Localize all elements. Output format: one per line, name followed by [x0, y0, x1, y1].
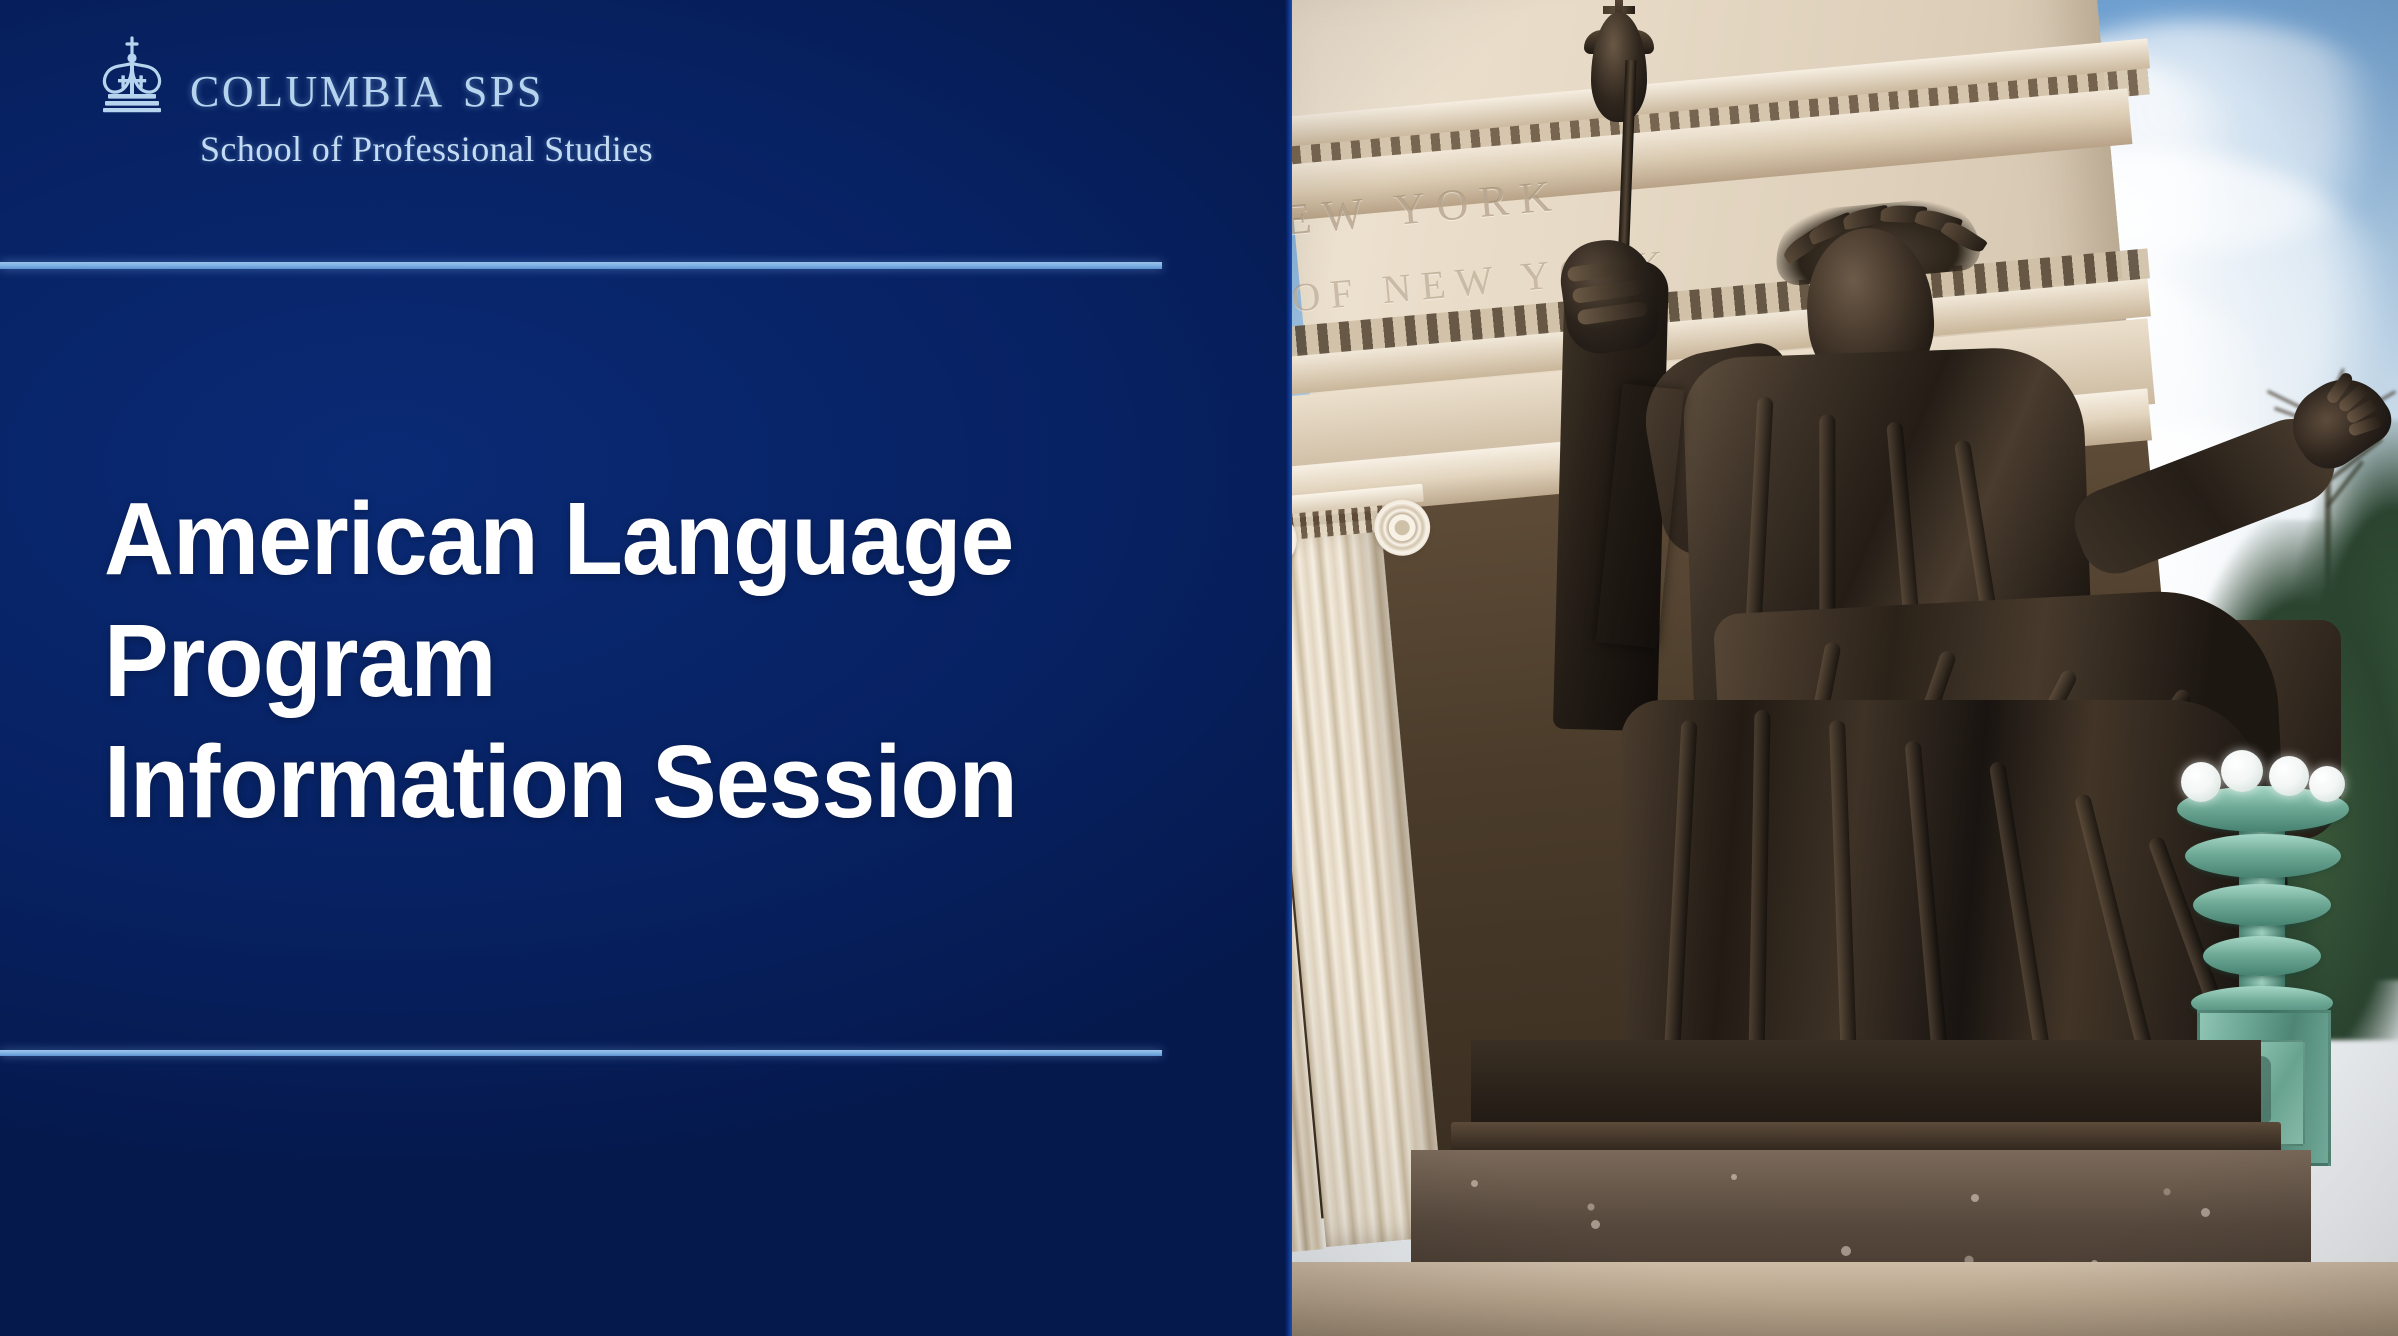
title-line-2: Program	[104, 600, 1017, 722]
columbia-crown-icon	[96, 34, 168, 114]
title-line-1: American Language	[104, 478, 1017, 600]
logo-wordmark: Columbia SPS	[190, 55, 544, 117]
lamp-globe	[2309, 766, 2345, 802]
presentation-slide: EW YORK OF NEW YORK Y OLD TO GENER MDCCC	[0, 0, 2398, 1336]
lamp-globe	[2269, 756, 2309, 796]
lamppost-tier	[2203, 936, 2321, 976]
lamp-globe	[2181, 762, 2221, 802]
lamp-globe	[2221, 750, 2263, 792]
stone-steps	[1291, 1262, 2398, 1336]
title-line-3: Information Session	[104, 721, 1017, 843]
panel-edge	[1285, 0, 1292, 1336]
page-title: American Language Program Information Se…	[104, 478, 1075, 843]
lamppost-tier	[2193, 884, 2331, 926]
columbia-sps-logo: Columbia SPS School of Professional Stud…	[96, 34, 756, 170]
divider-rule-top	[0, 262, 1162, 269]
logo-sub-wordmark: School of Professional Studies	[200, 128, 756, 170]
alma-mater-photo: EW YORK OF NEW YORK Y OLD TO GENER MDCCC	[1291, 0, 2398, 1336]
divider-rule-bottom	[0, 1050, 1162, 1056]
lamppost-tier	[2185, 834, 2341, 878]
